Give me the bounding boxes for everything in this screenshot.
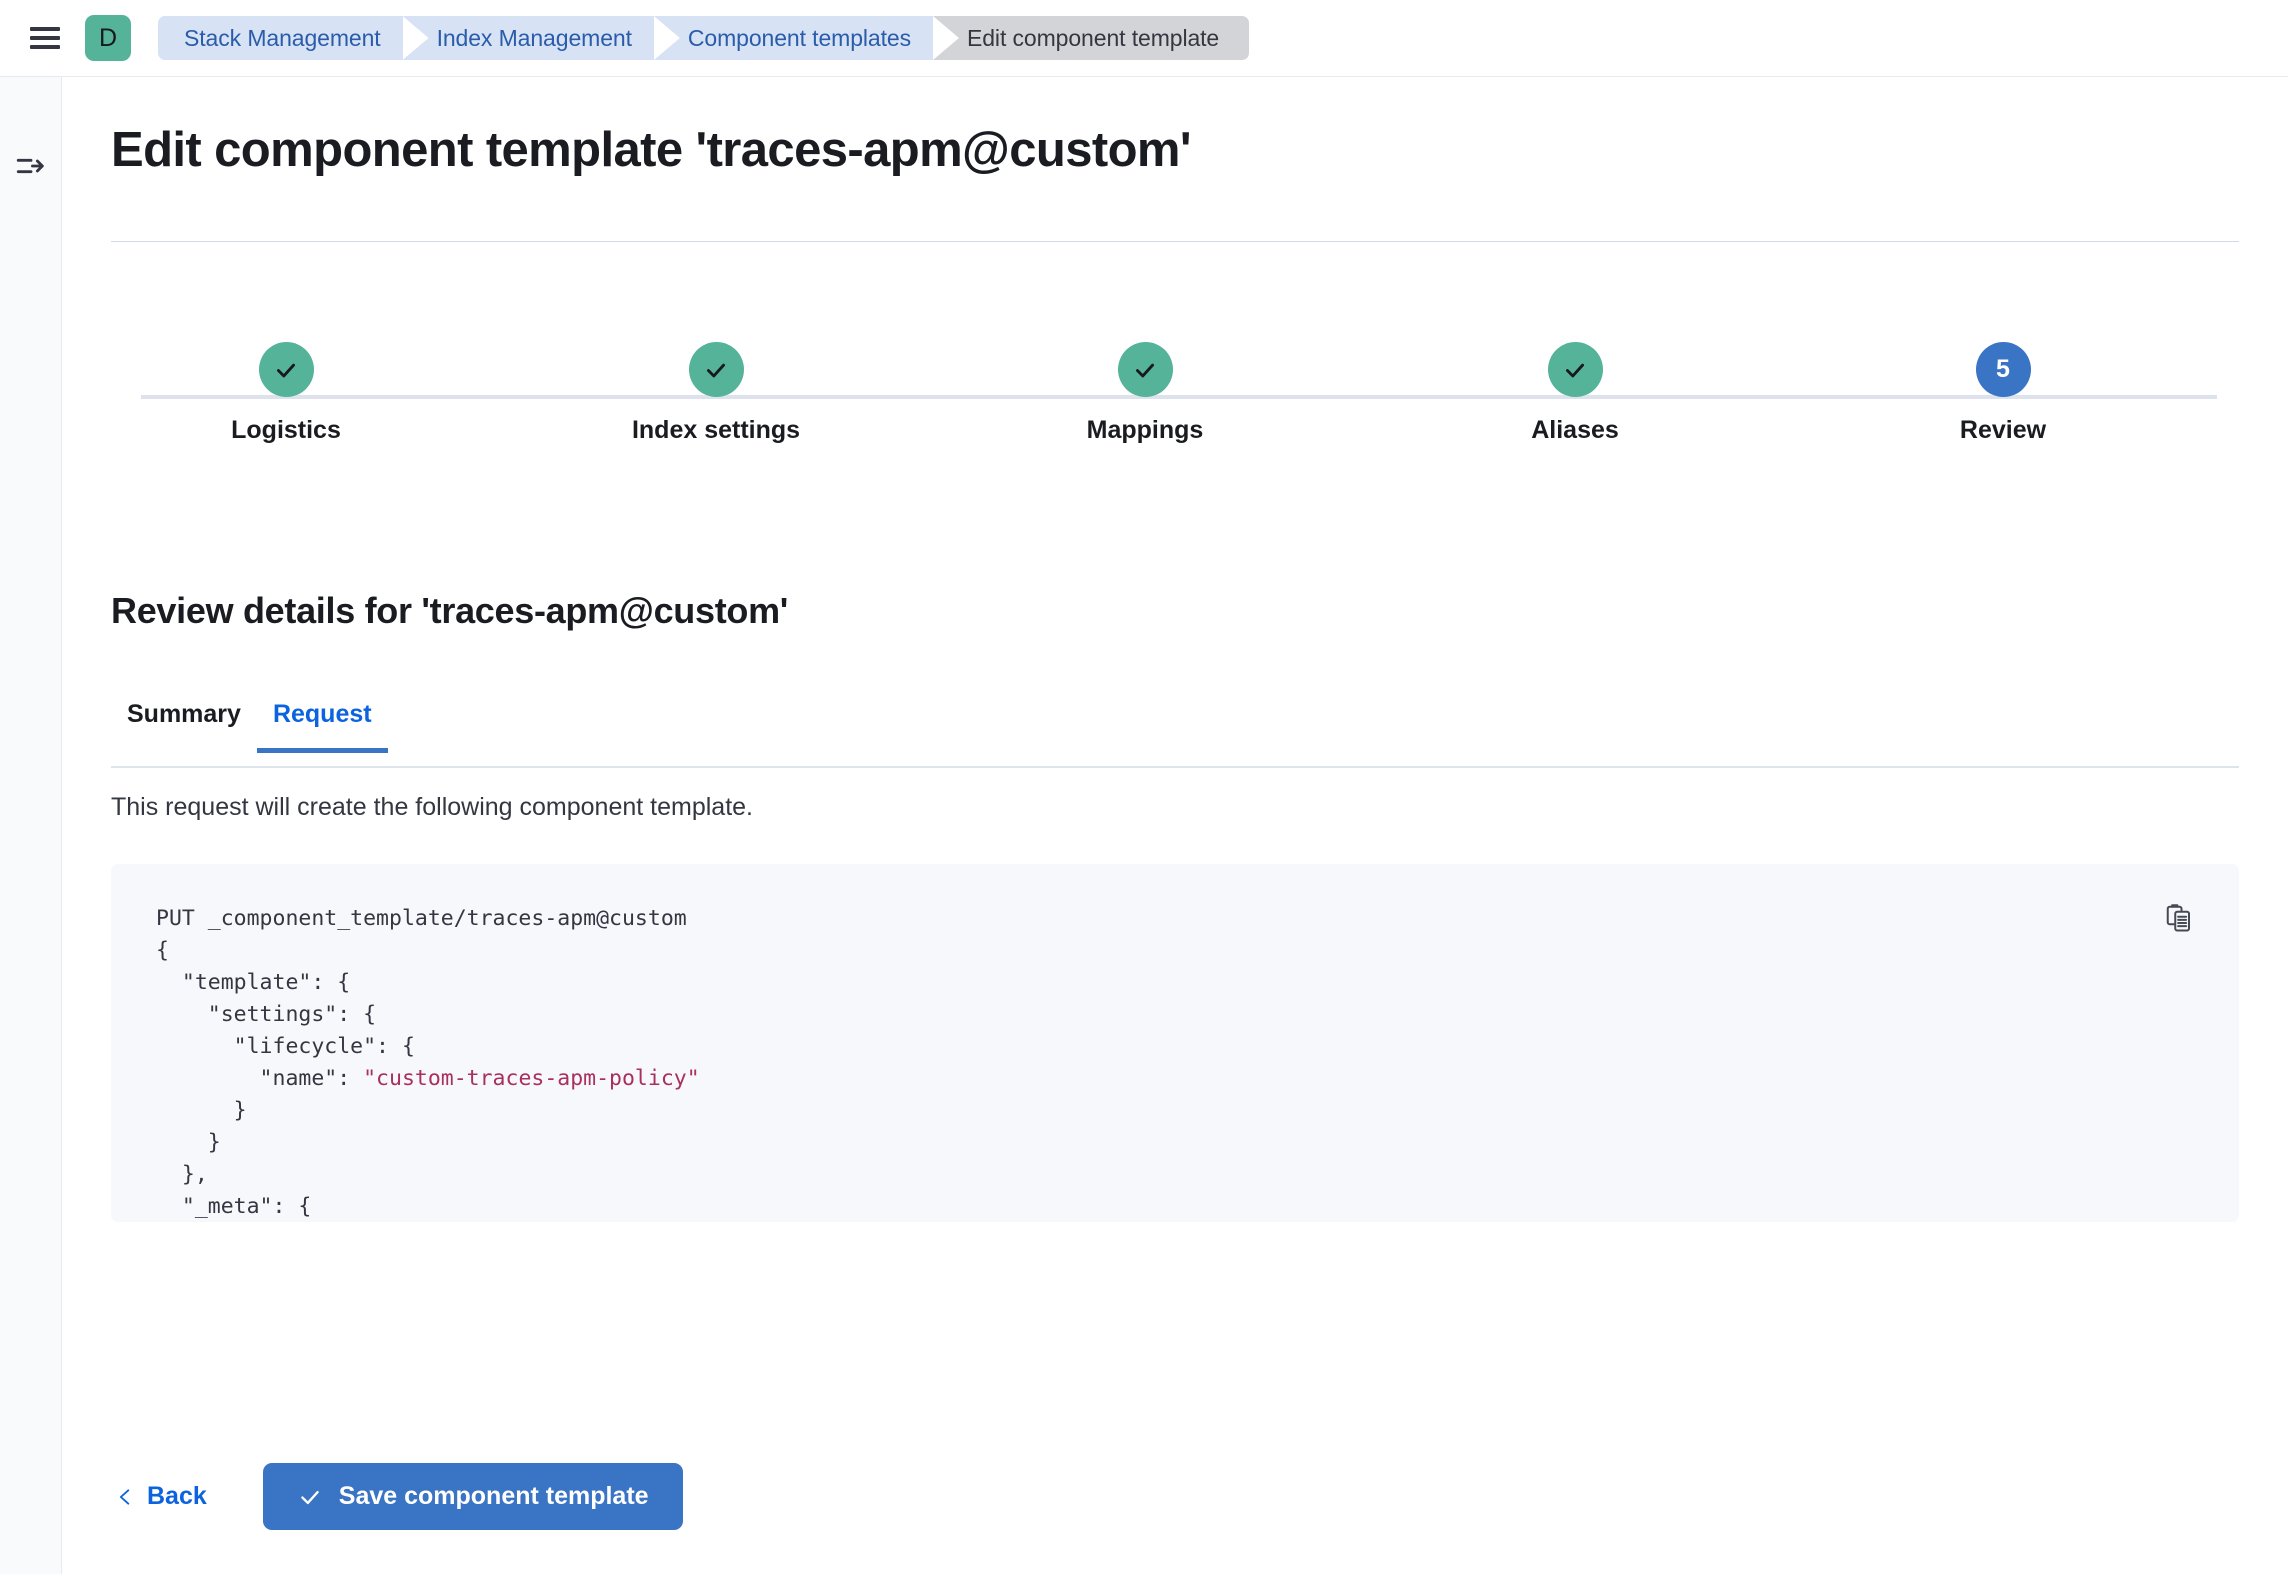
page-title: Edit component template 'traces-apm@cust… [111, 122, 1191, 178]
breadcrumb-label: Component templates [688, 25, 911, 52]
hamburger-line [30, 36, 60, 40]
step-status-circle [259, 342, 314, 397]
stepper-step-logistics[interactable]: Logistics [141, 342, 431, 445]
breadcrumb-item-edit-component-template[interactable]: Edit component template [933, 16, 1249, 60]
code-line: { [156, 935, 700, 967]
title-divider [111, 241, 2239, 242]
code-line: } [156, 1095, 700, 1127]
review-tabs: Summary Request [111, 690, 2239, 768]
breadcrumb: Stack Management Index Management Compon… [158, 16, 1249, 60]
stepper-step-aliases[interactable]: Aliases [1430, 342, 1720, 445]
check-icon [1562, 357, 1588, 383]
hamburger-line [30, 27, 60, 31]
space-avatar[interactable]: D [85, 15, 131, 61]
stepper-step-index-settings[interactable]: Index settings [571, 342, 861, 445]
code-line: "name": "custom-traces-apm-policy" [156, 1063, 700, 1095]
stepper-step-mappings[interactable]: Mappings [1000, 342, 1290, 445]
code-line: "template": { [156, 967, 700, 999]
hamburger-line [30, 45, 60, 49]
wizard-footer: Back Save component template [111, 1463, 683, 1530]
step-status-circle: 5 [1976, 342, 2031, 397]
step-label: Aliases [1531, 416, 1619, 445]
tab-label: Summary [127, 700, 241, 728]
stepper-step-review[interactable]: 5 Review [1858, 342, 2148, 445]
code-line: }, [156, 1159, 700, 1191]
breadcrumb-item-index-management[interactable]: Index Management [403, 16, 654, 60]
back-button-label: Back [147, 1482, 207, 1511]
save-component-template-button[interactable]: Save component template [263, 1463, 683, 1530]
step-label: Index settings [632, 416, 800, 445]
request-description: This request will create the following c… [111, 793, 753, 822]
breadcrumb-label: Stack Management [184, 25, 381, 52]
request-code-text: PUT _component_template/traces-apm@custo… [156, 903, 700, 1222]
save-button-label: Save component template [339, 1482, 649, 1511]
step-status-circle [1118, 342, 1173, 397]
check-icon [297, 1484, 323, 1510]
code-line: "_meta": { [156, 1191, 700, 1222]
breadcrumb-item-stack-management[interactable]: Stack Management [158, 16, 403, 60]
code-line: "lifecycle": { [156, 1031, 700, 1063]
section-title: Review details for 'traces-apm@custom' [111, 590, 788, 632]
space-avatar-label: D [99, 24, 117, 53]
collapsed-sidebar [0, 77, 62, 1574]
tab-label: Request [273, 700, 372, 728]
copy-clipboard-icon[interactable] [2157, 896, 2201, 940]
expand-panel-icon[interactable] [14, 149, 48, 183]
main-content: Edit component template 'traces-apm@cust… [63, 77, 2288, 1574]
step-label: Review [1960, 416, 2046, 445]
top-chrome-bar: D Stack Management Index Management Comp… [0, 0, 2288, 77]
code-line: } [156, 1127, 700, 1159]
back-button[interactable]: Back [111, 1474, 211, 1519]
step-label: Mappings [1087, 416, 1204, 445]
step-status-circle [1548, 342, 1603, 397]
check-icon [273, 357, 299, 383]
breadcrumb-label: Edit component template [967, 25, 1219, 52]
step-status-circle [689, 342, 744, 397]
wizard-stepper: Logistics Index settings Mappings [111, 342, 2241, 472]
step-number: 5 [1996, 355, 2010, 384]
breadcrumb-item-component-templates[interactable]: Component templates [654, 16, 933, 60]
chevron-left-icon [115, 1485, 135, 1509]
breadcrumb-label: Index Management [437, 25, 632, 52]
code-line: "settings": { [156, 999, 700, 1031]
code-string-literal: "custom-traces-apm-policy" [363, 1066, 700, 1091]
code-line: PUT _component_template/traces-apm@custo… [156, 903, 700, 935]
tab-request[interactable]: Request [257, 690, 388, 751]
check-icon [703, 357, 729, 383]
tab-summary[interactable]: Summary [111, 690, 257, 751]
step-label: Logistics [231, 416, 341, 445]
request-code-block: PUT _component_template/traces-apm@custo… [111, 864, 2239, 1222]
hamburger-menu-icon[interactable] [30, 27, 60, 49]
check-icon [1132, 357, 1158, 383]
